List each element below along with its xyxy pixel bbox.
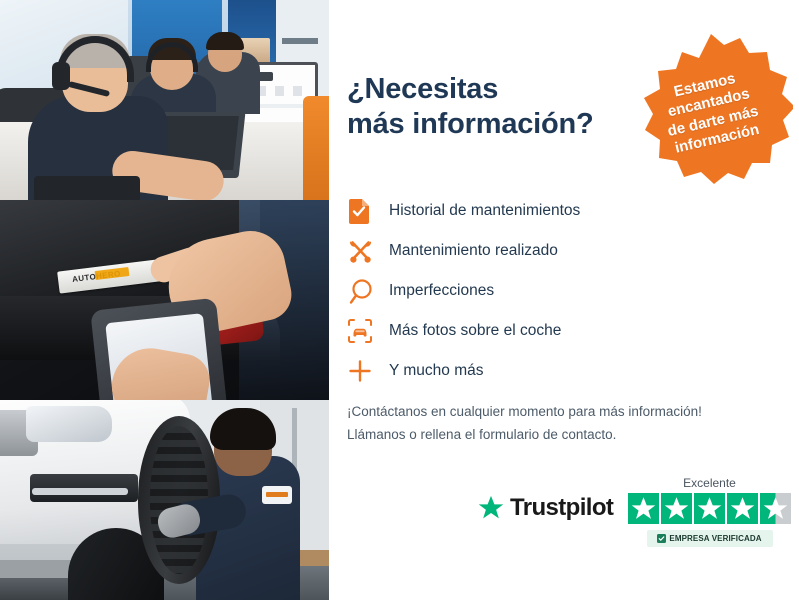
feature-label: Y mucho más xyxy=(389,362,483,380)
feature-item-car-photos: Más fotos sobre el coche xyxy=(347,312,677,350)
trustpilot-widget[interactable]: Trustpilot Excelente xyxy=(477,476,797,554)
car-camera-icon xyxy=(347,317,389,345)
feature-item-maintenance-done: Mantenimiento realizado xyxy=(347,232,677,270)
status-badge: Estamos encantados de darte más informac… xyxy=(629,30,793,188)
feature-label: Mantenimiento realizado xyxy=(389,242,558,260)
star-filled xyxy=(661,493,692,524)
feature-list: Historial de mantenimientos M xyxy=(347,192,677,392)
contact-text: ¡Contáctanos en cualquier momento para m… xyxy=(347,400,787,446)
mechanic-tyre-check-photo xyxy=(0,400,329,600)
verified-label: EMPRESA VERIFICADA xyxy=(669,534,761,543)
headline-line-1: ¿Necesitas xyxy=(347,73,498,105)
photo-column xyxy=(0,0,329,600)
star-filled xyxy=(628,493,659,524)
feature-item-more: Y mucho más xyxy=(347,352,677,390)
vehicle-inspection-photo xyxy=(0,200,329,400)
feature-label: Más fotos sobre el coche xyxy=(389,322,561,340)
trustpilot-brand: Trustpilot xyxy=(510,494,613,522)
magnifier-icon xyxy=(347,277,389,305)
promo-banner: ¿Necesitas más información? Estamos enca… xyxy=(0,0,799,600)
verified-check-icon xyxy=(657,534,666,543)
trustpilot-logo[interactable]: Trustpilot xyxy=(477,494,613,522)
star-filled xyxy=(694,493,725,524)
document-check-icon xyxy=(347,197,389,225)
trustpilot-rating: Excelente xyxy=(622,476,797,547)
trustpilot-star-icon xyxy=(477,494,505,522)
star-half xyxy=(760,493,791,524)
page-title: ¿Necesitas más información? xyxy=(347,72,647,143)
headset-icon xyxy=(629,30,663,62)
contact-line-1: ¡Contáctanos en cualquier momento para m… xyxy=(347,400,787,423)
trustpilot-rating-label: Excelente xyxy=(622,476,797,490)
feature-item-imperfections: Imperfecciones xyxy=(347,272,677,310)
feature-label: Imperfecciones xyxy=(389,282,494,300)
feature-item-maintenance-history: Historial de mantenimientos xyxy=(347,192,677,230)
trustpilot-stars xyxy=(622,493,797,524)
feature-label: Historial de mantenimientos xyxy=(389,202,580,220)
crossed-tools-icon xyxy=(347,237,389,265)
contact-line-2: Llámanos o rellena el formulario de cont… xyxy=(347,423,787,446)
verified-business-badge: EMPRESA VERIFICADA xyxy=(647,530,773,547)
call-center-agents-photo xyxy=(0,0,329,200)
headline-line-2: más información? xyxy=(347,107,647,142)
star-filled xyxy=(727,493,758,524)
plus-icon xyxy=(347,357,389,385)
content-panel: ¿Necesitas más información? Estamos enca… xyxy=(329,0,799,600)
